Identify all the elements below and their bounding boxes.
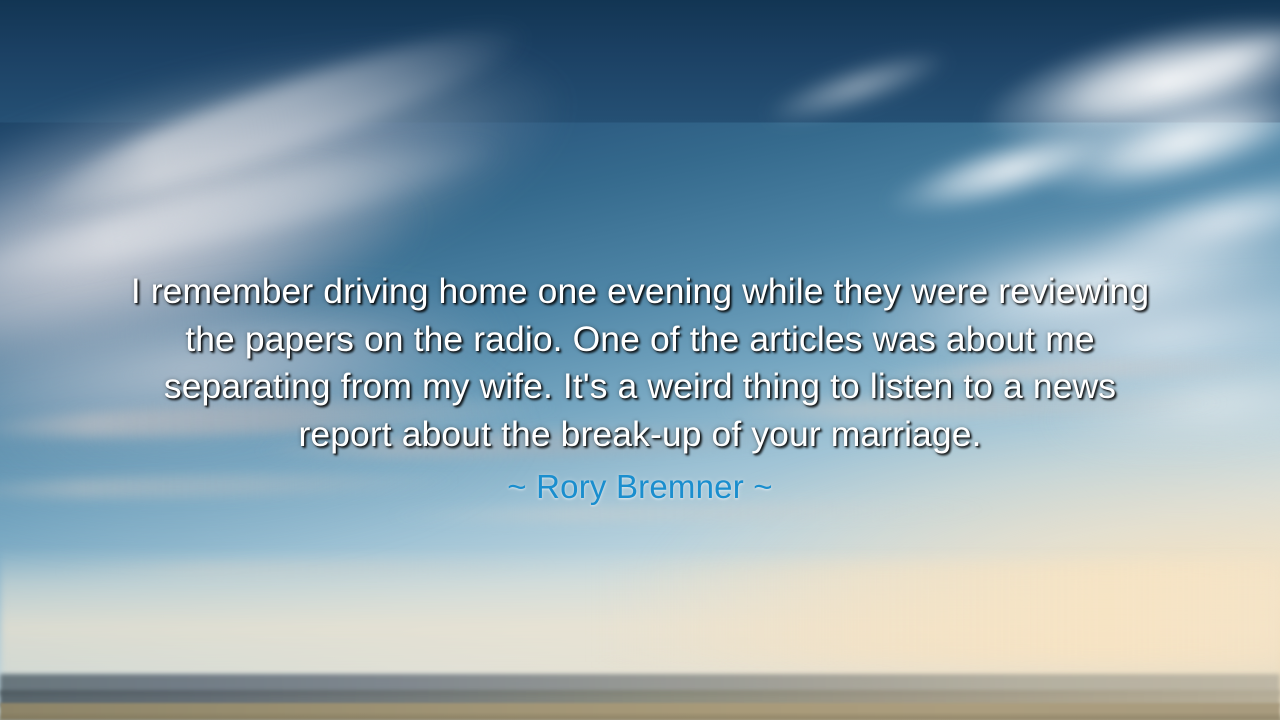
horizon-warm-haze [589,562,1280,663]
quote-block: I remember driving home one evening whil… [0,268,1280,458]
quote-attribution: ~ Rory Bremner ~ [0,467,1280,507]
quote-image-canvas: I remember driving home one evening whil… [0,0,1280,720]
quote-text: I remember driving home one evening whil… [96,268,1184,458]
foreground-shadow [0,712,1280,720]
